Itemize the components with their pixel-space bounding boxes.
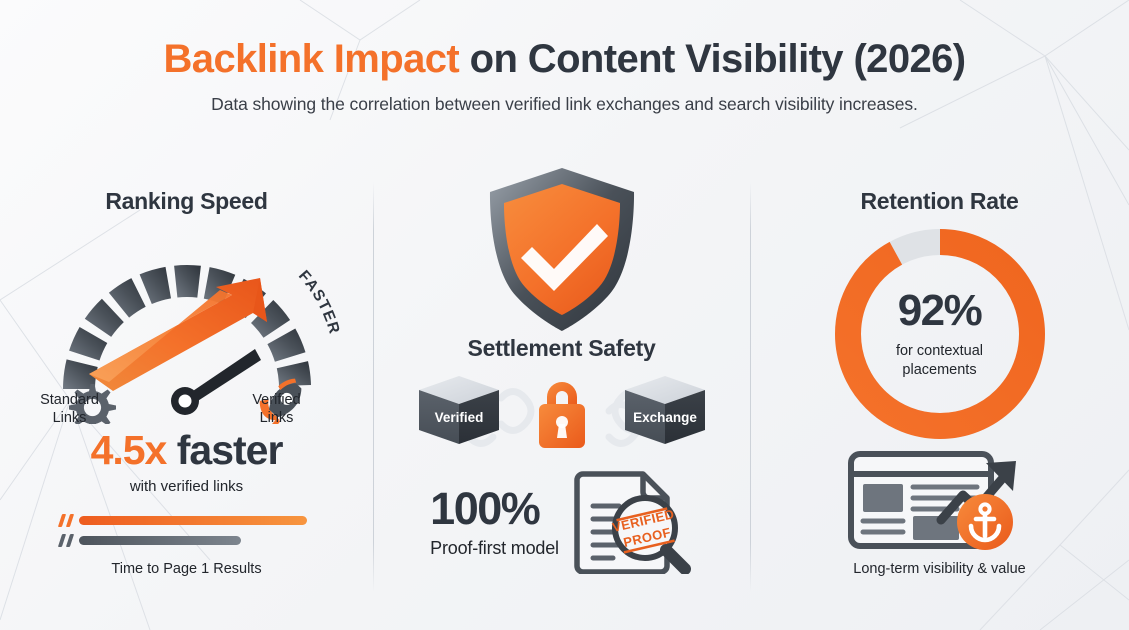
bar-row-standard <box>57 534 317 547</box>
document-magnifier-icon: VERIFIED PROOF <box>573 466 693 579</box>
gauge-left-label: Standard Links <box>15 391 125 427</box>
panel-title-retention-rate: Retention Rate <box>750 188 1129 215</box>
panels-container: Ranking Speed <box>0 170 1129 600</box>
proof-percent: 100% <box>430 486 559 531</box>
donut-caption-line2: placements <box>896 361 983 380</box>
panel-settlement-safety: Settlement Safety <box>373 170 750 600</box>
bar-chart-caption: Time to Page 1 Results <box>57 561 317 577</box>
cube-exchange: Exchange <box>625 376 705 444</box>
proof-stat: 100% Proof-first model <box>430 486 559 559</box>
browser-growth-anchor-icon <box>845 448 1035 553</box>
padlock-icon <box>539 382 585 448</box>
bar-verified-links <box>79 516 307 525</box>
panel-title-settlement-safety: Settlement Safety <box>373 335 750 362</box>
gauge-faster-label: FASTER <box>294 267 342 336</box>
ranking-speed-stat: 4.5x faster <box>0 430 373 471</box>
stat-number: 4.5x <box>91 427 167 473</box>
gauge-left-label-line2: Links <box>15 409 125 427</box>
page-title-accent: Backlink Impact <box>164 37 460 81</box>
slash-marker-icon <box>57 534 79 547</box>
proof-caption: Proof-first model <box>430 538 559 559</box>
panel-retention-rate: Retention Rate 92% <box>750 170 1129 600</box>
page-title-rest: on Content Visibility (2026) <box>459 37 965 81</box>
retention-caption: Long-term visibility & value <box>750 561 1129 577</box>
donut-percent: 92% <box>898 289 982 333</box>
header: Backlink Impact on Content Visibility (2… <box>0 38 1129 115</box>
panel-title-ranking-speed: Ranking Speed <box>0 188 373 215</box>
ranking-speed-gauge: FASTER <box>17 219 357 424</box>
panel-ranking-speed: Ranking Speed <box>0 170 373 600</box>
bar-row-verified <box>57 514 317 527</box>
donut-caption-line1: for contextual <box>896 342 983 361</box>
gauge-right-label-line2: Links <box>222 409 332 427</box>
cube-verified-label: Verified <box>434 410 483 425</box>
slash-marker-icon <box>57 514 79 527</box>
donut-center-label: 92% for contextual placements <box>829 223 1051 445</box>
gauge-left-label-line1: Standard <box>15 391 125 409</box>
proof-first-block: 100% Proof-first model <box>373 466 750 579</box>
page-subtitle: Data showing the correlation between ver… <box>0 94 1129 115</box>
donut-caption: for contextual placements <box>896 342 983 380</box>
gauge-right-label-line1: Verified <box>222 391 332 409</box>
stat-word: faster <box>166 427 282 473</box>
cube-exchange-label: Exchange <box>633 410 697 425</box>
bar-standard-links <box>79 536 241 545</box>
stat-subtitle: with verified links <box>0 478 373 495</box>
shield-check-icon <box>462 162 662 337</box>
infographic-canvas: Backlink Impact on Content Visibility (2… <box>0 0 1129 630</box>
retention-donut-chart: 92% for contextual placements <box>829 223 1051 445</box>
gauge-right-label: Verified Links <box>222 391 332 427</box>
verified-exchange-chain: Verified Exchange <box>397 372 727 450</box>
page-title: Backlink Impact on Content Visibility (2… <box>0 38 1129 80</box>
time-to-page1-bar-chart: Time to Page 1 Results <box>57 514 317 577</box>
cube-verified: Verified <box>419 376 499 444</box>
